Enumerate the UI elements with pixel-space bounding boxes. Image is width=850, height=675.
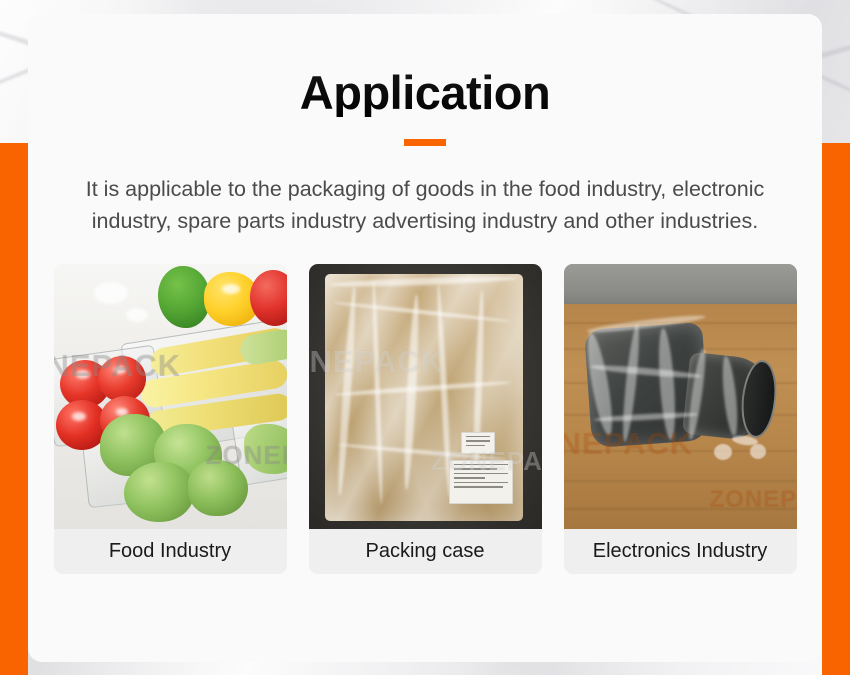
food-industry-photo: ZONEPACK ZONEPACK [54,264,287,529]
section-description: It is applicable to the packaging of goo… [80,174,770,237]
page-title: Application [28,14,822,117]
orange-side-band-left [0,143,28,675]
application-card[interactable]: ZONEPACK ZONEPACK Packing case [309,264,542,574]
shipping-label-small [461,432,495,454]
title-accent-bar [404,139,446,146]
card-label: Food Industry [54,529,287,574]
application-section: Application It is applicable to the pack… [0,0,850,675]
packing-case-photo: ZONEPACK ZONEPACK [309,264,542,529]
card-label: Packing case [309,529,542,574]
shipping-label-large [449,460,513,504]
card-label: Electronics Industry [564,529,797,574]
application-card[interactable]: ZONEPACK ZONEPACK Electronics Industry [564,264,797,574]
application-card[interactable]: ZONEPACK ZONEPACK Food Industry [54,264,287,574]
content-panel: Application It is applicable to the pack… [28,14,822,662]
orange-side-band-right [822,143,850,675]
application-card-list: ZONEPACK ZONEPACK Food Industry [28,264,822,574]
electronics-industry-photo: ZONEPACK ZONEPACK [564,264,797,529]
background-wall [564,264,797,304]
